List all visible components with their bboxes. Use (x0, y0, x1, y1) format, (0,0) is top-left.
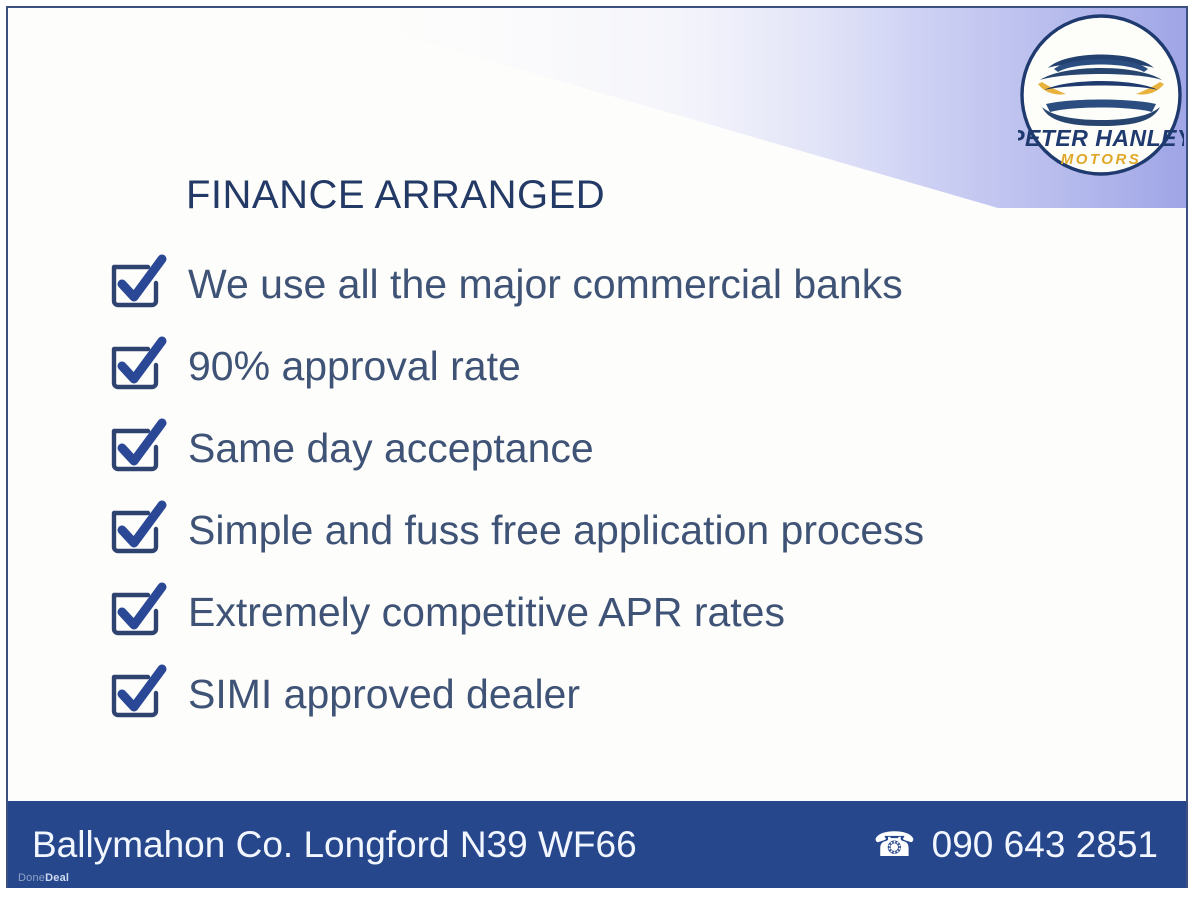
list-item: SIMI approved dealer (106, 653, 1106, 735)
list-item: We use all the major commercial banks (106, 243, 1106, 325)
peter-hanley-motors-logo: PETER HANLEY MOTORS (1018, 12, 1184, 178)
finance-arranged-poster: PETER HANLEY MOTORS FINANCE ARRANGED We … (0, 0, 1200, 900)
list-item-label: Extremely competitive APR rates (188, 592, 785, 633)
list-item: Extremely competitive APR rates (106, 571, 1106, 653)
logo-badge: PETER HANLEY MOTORS (1018, 12, 1184, 178)
page-title: FINANCE ARRANGED (186, 173, 605, 218)
benefits-checklist: We use all the major commercial banks 90… (106, 243, 1106, 735)
checkbox-checked-icon (106, 499, 168, 561)
checkbox-checked-icon (106, 581, 168, 643)
list-item-label: 90% approval rate (188, 346, 521, 387)
logo-brand-line1: PETER HANLEY (1018, 125, 1184, 151)
watermark-suffix: Deal (45, 872, 69, 884)
checkbox-checked-icon (106, 253, 168, 315)
checkbox-checked-icon (106, 663, 168, 725)
donedeal-watermark: DoneDeal (18, 872, 69, 884)
checkbox-checked-icon (106, 417, 168, 479)
footer-bar: Ballymahon Co. Longford N39 WF66 ☎ 090 6… (8, 801, 1186, 888)
list-item-label: We use all the major commercial banks (188, 264, 903, 305)
list-item: Same day acceptance (106, 407, 1106, 489)
list-item: 90% approval rate (106, 325, 1106, 407)
list-item-label: Same day acceptance (188, 428, 594, 469)
list-item-label: Simple and fuss free application process (188, 510, 924, 551)
footer-phone[interactable]: ☎ 090 643 2851 (873, 824, 1158, 866)
watermark-prefix: Done (18, 872, 45, 884)
list-item: Simple and fuss free application process (106, 489, 1106, 571)
list-item-label: SIMI approved dealer (188, 674, 580, 715)
telephone-icon: ☎ (873, 828, 915, 862)
footer-phone-number: 090 643 2851 (932, 824, 1158, 866)
logo-brand-line2: MOTORS (1061, 151, 1142, 168)
footer-address: Ballymahon Co. Longford N39 WF66 (32, 824, 637, 866)
checkbox-checked-icon (106, 335, 168, 397)
